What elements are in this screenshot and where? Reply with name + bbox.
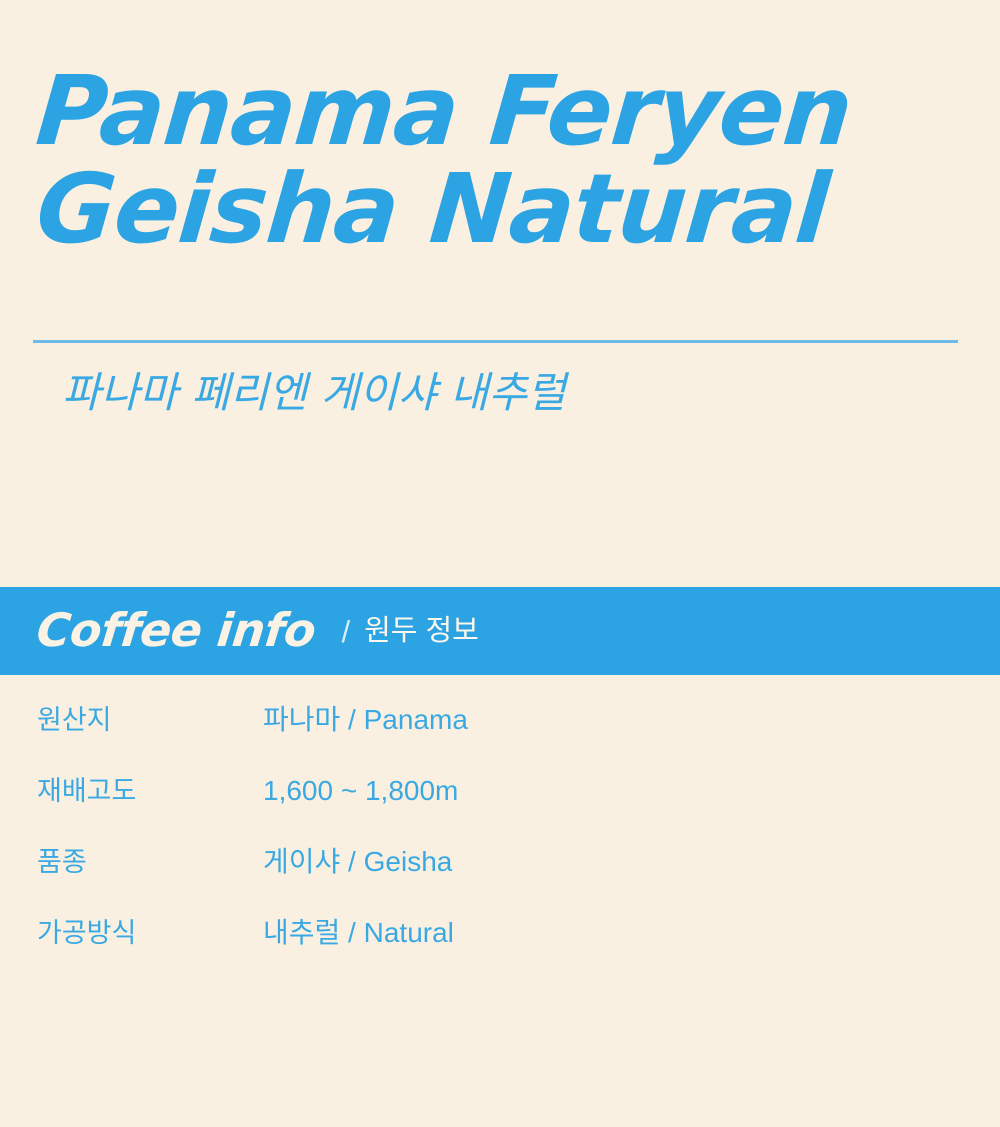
info-label-origin: 원산지 [37, 707, 263, 734]
product-subtitle-korean: 파나마 페리엔 게이샤 내추럴 [62, 368, 566, 418]
info-value-origin: 파나마 / Panama [263, 706, 468, 734]
product-info-page: Panama Feryen Geisha Natural 파나마 페리엔 게이샤… [0, 0, 1000, 1127]
table-row: 품종 게이샤 / Geisha [37, 848, 937, 919]
banner-title-korean: 원두 정보 [364, 617, 479, 646]
product-title-line-2: Geisha Natural [33, 162, 971, 256]
title-divider [33, 340, 958, 343]
table-row: 재배고도 1,600 ~ 1,800m [37, 777, 937, 848]
info-value-altitude: 1,600 ~ 1,800m [263, 777, 458, 805]
page-title: Panama Feryen Geisha Natural [33, 64, 963, 256]
info-label-variety: 품종 [37, 849, 263, 876]
coffee-info-table: 원산지 파나마 / Panama 재배고도 1,600 ~ 1,800m 품종 … [37, 706, 937, 990]
info-label-altitude: 재배고도 [37, 778, 263, 805]
info-label-process: 가공방식 [37, 920, 263, 947]
coffee-info-banner: Coffee info / 원두 정보 [0, 587, 1000, 675]
info-value-process: 내추럴 / Natural [263, 919, 454, 947]
table-row: 원산지 파나마 / Panama [37, 706, 937, 777]
product-title-line-1: Panama Feryen [33, 64, 971, 158]
info-value-variety: 게이샤 / Geisha [263, 848, 452, 876]
banner-title-english: Coffee info [35, 607, 318, 653]
table-row: 가공방식 내추럴 / Natural [37, 919, 937, 990]
banner-separator: / [341, 616, 350, 647]
